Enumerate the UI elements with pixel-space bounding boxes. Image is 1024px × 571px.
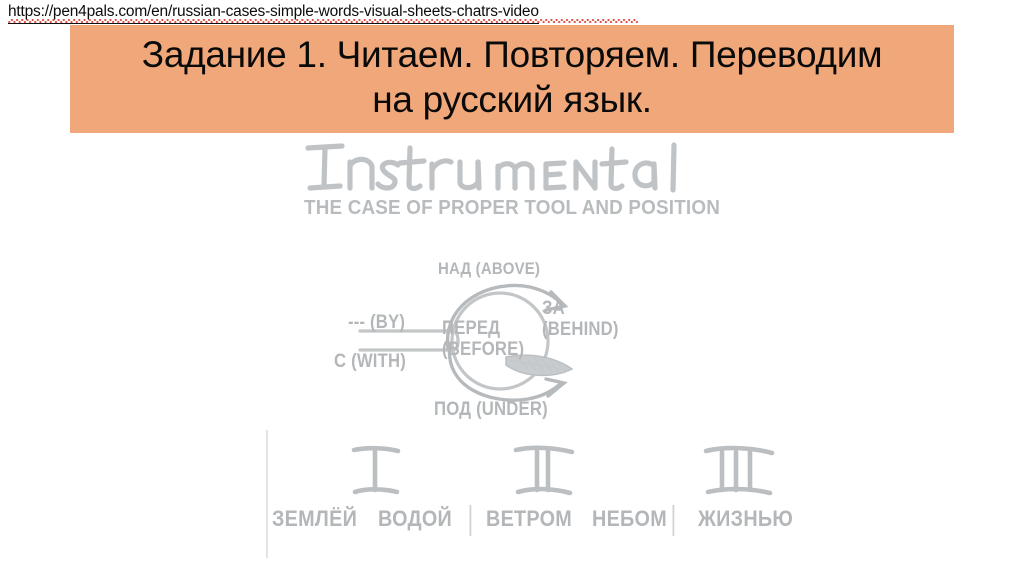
worksheet-image: THE CASE OF PROPER TOOL AND POSITION	[0, 133, 1024, 571]
declension-word-vetrom: ВЕТРОМ	[486, 506, 572, 532]
instrumental-case-diagram: НАД (ABOVE) --- (BY) С (WITH) ЗА (BEHIND…	[330, 253, 670, 428]
worksheet-subtitle: THE CASE OF PROPER TOOL AND POSITION	[41, 196, 983, 220]
diagram-label-before-line2: (BEFORE)	[442, 340, 524, 361]
declension-word-vodoy: ВОДОЙ	[378, 506, 452, 532]
diagram-label-behind-line2: (BEHIND)	[542, 320, 619, 341]
declension-left-rule	[266, 430, 268, 558]
roman-numeral-1	[346, 442, 404, 505]
declension-groups: ЗЕМЛЁЙ ВОДОЙ | ВЕТРОМ НЕБОМ | ЖИЗНЬЮ	[260, 428, 1024, 568]
declension-word-nebom: НЕБОМ	[592, 506, 667, 532]
roman-numeral-2	[510, 442, 578, 505]
declension-word-zhiznyu: ЖИЗНЬЮ	[698, 506, 793, 532]
diagram-label-before-line1: ПЕРЕД	[442, 319, 524, 340]
diagram-label-by: --- (BY)	[348, 312, 405, 334]
diagram-label-behind-line1: ЗА	[542, 299, 619, 320]
task-title-line-1: Задание 1. Читаем. Повторяем. Переводим	[142, 32, 882, 77]
diagram-label-above: НАД (ABOVE)	[438, 259, 540, 279]
diagram-label-behind: ЗА (BEHIND)	[542, 299, 619, 340]
declension-separator-1: |	[467, 500, 474, 538]
diagram-label-with: С (WITH)	[334, 351, 406, 373]
declension-word-zemlyoy: ЗЕМЛЁЙ	[272, 506, 357, 532]
task-title-banner: Задание 1. Читаем. Повторяем. Переводим …	[70, 25, 954, 133]
roman-numeral-3	[700, 442, 778, 505]
task-title-line-2: на русский язык.	[372, 77, 652, 122]
handwritten-instrumental-title	[0, 138, 1024, 200]
spellcheck-squiggle	[8, 19, 638, 23]
diagram-label-before: ПЕРЕД (BEFORE)	[442, 319, 524, 360]
declension-separator-2: |	[670, 500, 677, 538]
diagram-label-under: ПОД (UNDER)	[434, 399, 548, 421]
